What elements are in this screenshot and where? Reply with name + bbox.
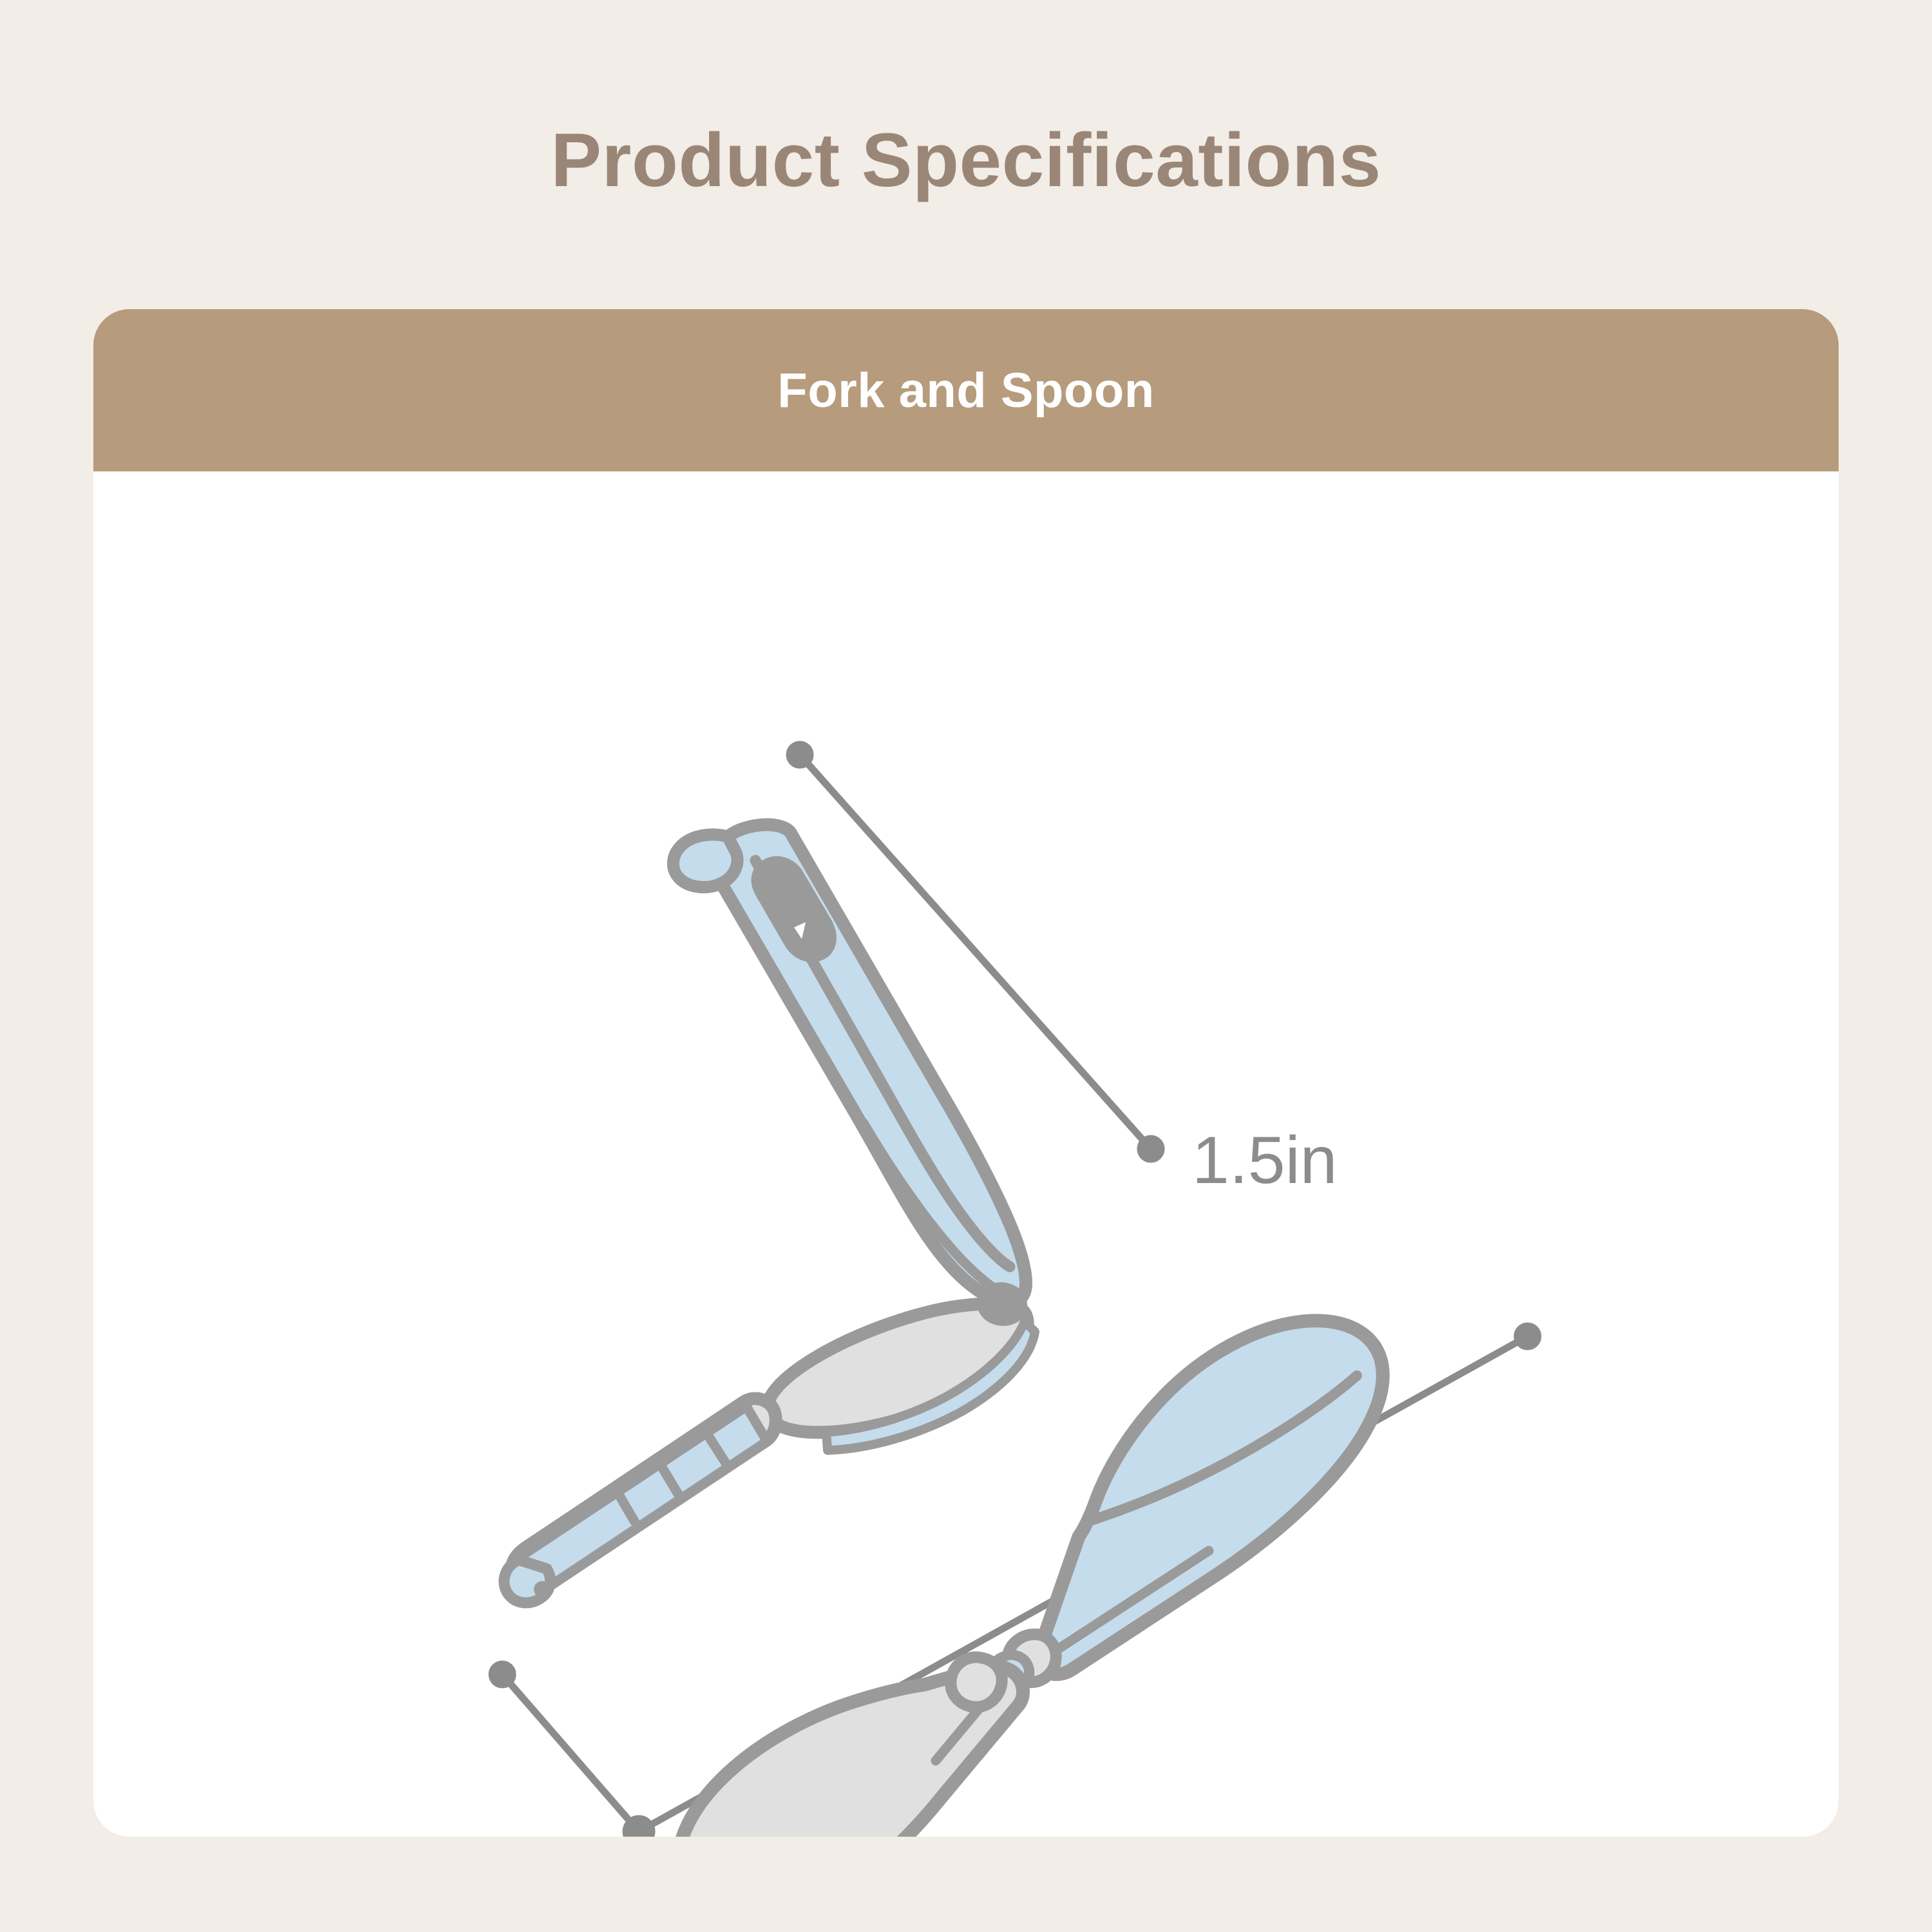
card-body: 1.5in 6.7in 0.9in	[93, 471, 1839, 1837]
dimension-endpoint-dot	[1514, 1323, 1541, 1350]
fork-spoon-hinge-pin	[981, 1287, 1023, 1322]
dimension-endpoint-dot	[489, 1661, 516, 1688]
dimension-line-0-9in	[489, 1661, 655, 1837]
page-title: Product Specifications	[0, 119, 1932, 203]
fork-top-clasp	[673, 835, 737, 887]
card-header-title: Fork and Spoon	[777, 363, 1154, 419]
dimension-endpoint-dot	[1137, 1135, 1164, 1162]
spoon-gray-handle-collar	[951, 1657, 1001, 1707]
folded-fork-spoon-set	[504, 825, 1035, 1603]
folded-handle-rivet	[536, 1584, 548, 1595]
folded-spoon-handle-blue-face	[512, 1406, 767, 1591]
dimension-line-segment	[502, 1674, 639, 1832]
card-header: Fork and Spoon	[93, 309, 1839, 471]
spoon-blue-body	[1034, 1321, 1383, 1674]
dimension-label-1-5in: 1.5in	[1192, 1123, 1338, 1198]
spoon-gray-bowl	[678, 1657, 1023, 1837]
specification-card: Fork and Spoon	[93, 309, 1839, 1837]
spoon-blue-bowl	[991, 1321, 1383, 1690]
infographic-page: Product Specifications Fork and Spoon	[0, 0, 1932, 1932]
folding-fork-and-spoon-diagram: 1.5in 6.7in 0.9in	[93, 471, 1839, 1837]
dimension-endpoint-dot	[786, 741, 813, 768]
